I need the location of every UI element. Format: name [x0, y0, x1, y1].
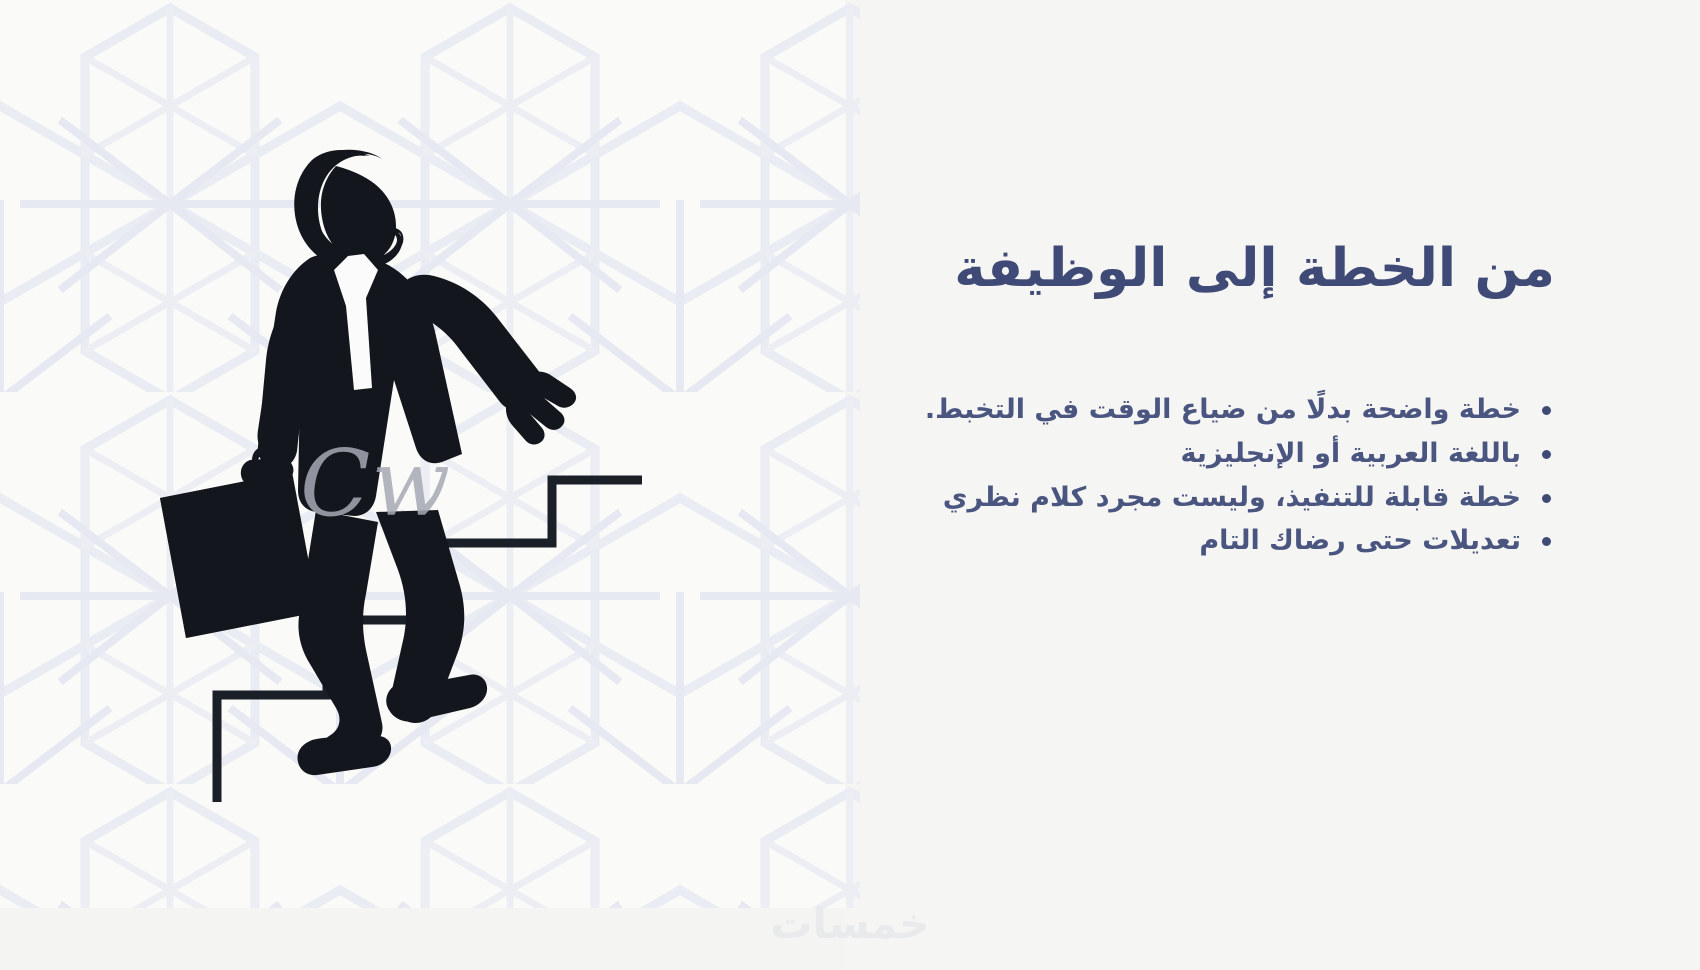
bullet-dot-icon [1542, 494, 1551, 503]
list-item: باللغة العربية أو الإنجليزية [825, 432, 1555, 476]
bullet-dot-icon [1542, 450, 1551, 459]
list-item-label: خطة قابلة للتنفيذ، وليست مجرد كلام نظري [943, 482, 1521, 513]
list-item-label: تعديلات حتى رضاك التام [1199, 525, 1521, 556]
list-item-label: خطة واضحة بدلًا من ضياع الوقت في التخبط. [925, 394, 1521, 425]
businessman-silhouette [160, 150, 576, 775]
list-item-label: باللغة العربية أو الإنجليزية [1180, 438, 1521, 469]
page-title: من الخطة إلى الوظيفة [825, 236, 1555, 302]
text-content-block: من الخطة إلى الوظيفة خطة واضحة بدلًا من … [825, 236, 1555, 563]
feature-list: خطة واضحة بدلًا من ضياع الوقت في التخبط.… [825, 388, 1555, 563]
list-item: تعديلات حتى رضاك التام [825, 519, 1555, 563]
bullet-dot-icon [1542, 537, 1551, 546]
briefcase [160, 446, 318, 638]
list-item: خطة واضحة بدلًا من ضياع الوقت في التخبط. [825, 388, 1555, 432]
slide-canvas: Cw من الخطة إلى الوظيفة خطة واضحة بدلًا … [0, 0, 1700, 970]
bullet-dot-icon [1542, 406, 1551, 415]
businessman-climbing-stairs-illustration [140, 130, 700, 820]
site-watermark: خمسات [0, 899, 1700, 948]
list-item: خطة قابلة للتنفيذ، وليست مجرد كلام نظري [825, 476, 1555, 520]
